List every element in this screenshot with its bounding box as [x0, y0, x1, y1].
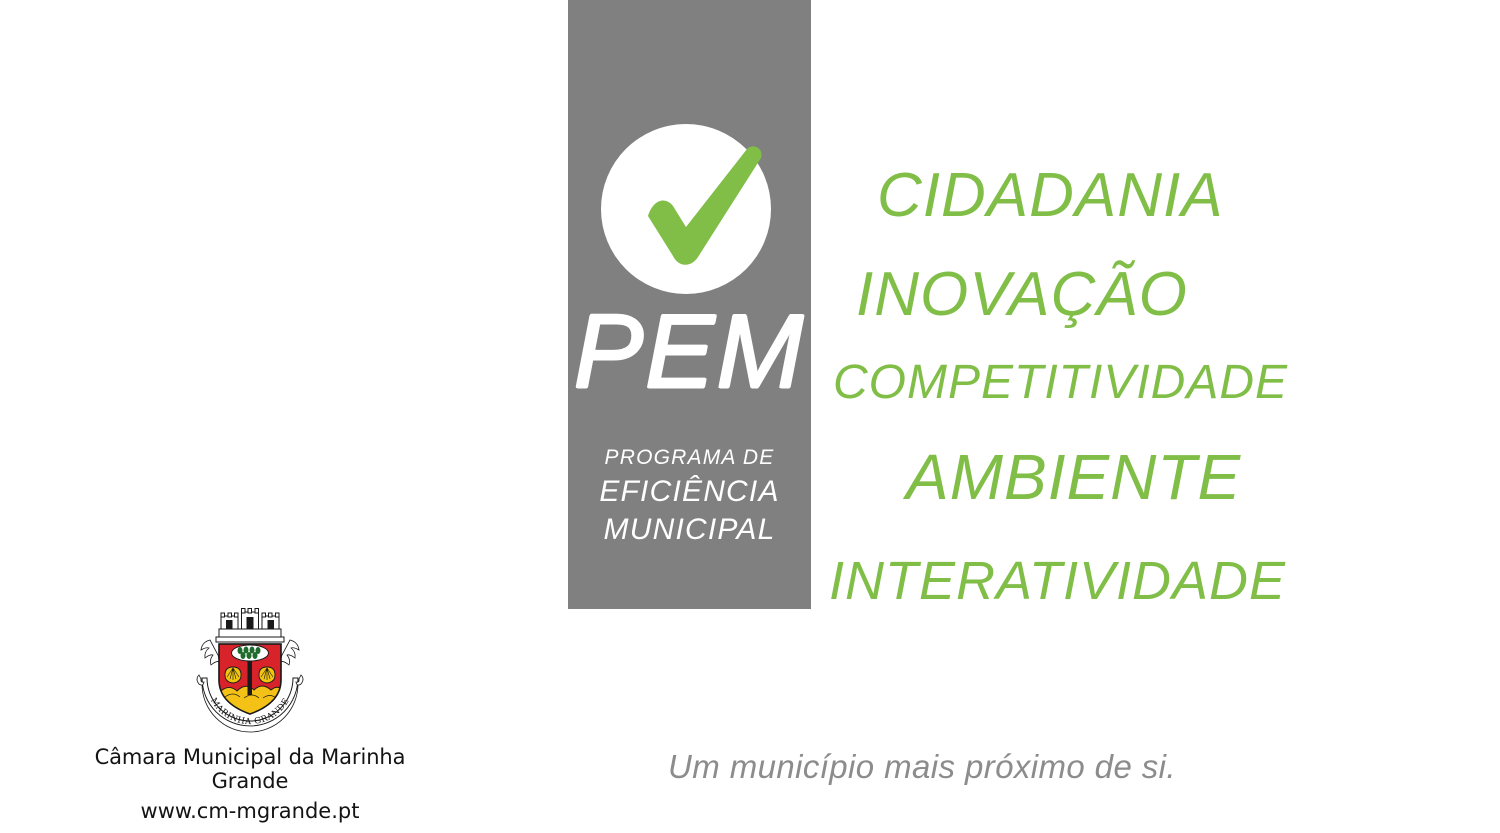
poster-canvas: PEM PROGRAMA DE EFICIÊNCIA MUNICIPAL CID… — [0, 0, 1500, 833]
keyword-competitividade: COMPETITIVIDADE — [833, 355, 1288, 410]
pem-wordmark: PEM — [568, 300, 811, 404]
keyword-cidadania: CIDADANIA — [877, 160, 1224, 231]
municipality-url: www.cm-mgrande.pt — [90, 799, 410, 823]
pem-subtitle-line-1: PROGRAMA DE — [568, 443, 811, 473]
keyword-inovacao: INOVAÇÃO — [856, 259, 1188, 330]
pem-subtitle-line-2: EFICIÊNCIA — [568, 473, 811, 511]
check-mark-icon — [601, 124, 775, 298]
municipality-name: Câmara Municipal da Marinha Grande — [90, 745, 410, 793]
pem-subtitle-line-3: MUNICIPAL — [568, 511, 811, 549]
keyword-interatividade: INTERATIVIDADE — [829, 550, 1286, 612]
pem-logo-badge — [601, 124, 775, 298]
tagline-text: Um município mais próximo de si. — [668, 748, 1176, 786]
coat-of-arms-icon: MARINHA GRANDE — [190, 605, 310, 735]
municipality-block: MARINHA GRANDE — [90, 605, 410, 823]
keyword-ambiente: AMBIENTE — [906, 440, 1241, 514]
pem-subtitle: PROGRAMA DE EFICIÊNCIA MUNICIPAL — [568, 443, 811, 549]
